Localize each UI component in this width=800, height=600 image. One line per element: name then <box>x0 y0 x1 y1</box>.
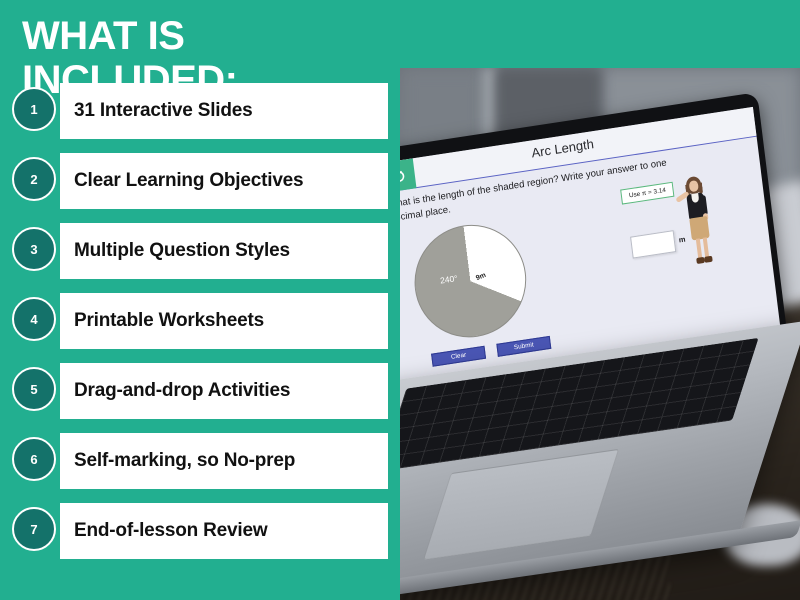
feature-label: Printable Worksheets <box>60 310 264 332</box>
feature-number-badge: 4 <box>12 297 56 341</box>
feature-number-badge: 2 <box>12 157 56 201</box>
feature-number-badge: 1 <box>12 87 56 131</box>
feature-box: Drag-and-drop Activities <box>60 363 388 419</box>
feature-box: Multiple Question Styles <box>60 223 388 279</box>
teacher-right-leg <box>703 237 709 257</box>
list-item[interactable]: Printable Worksheets 4 <box>0 288 400 358</box>
teacher-figure <box>673 170 724 271</box>
left-content-panel: WHAT IS INCLUDED: 31 Interactive Slides … <box>0 0 400 600</box>
clear-button[interactable]: Clear <box>431 346 486 367</box>
teacher-right-shoe <box>704 256 713 263</box>
sector-diagram: 240° 9m <box>408 217 533 345</box>
list-item[interactable]: 31 Interactive Slides 1 <box>0 78 400 148</box>
laptop: Arc Length What is the length of the sha… <box>400 150 800 600</box>
list-item[interactable]: Self-marking, so No-prep 6 <box>0 428 400 498</box>
feature-box: 31 Interactive Slides <box>60 83 388 139</box>
laptop-photo: Arc Length What is the length of the sha… <box>400 68 800 600</box>
list-item[interactable]: Multiple Question Styles 3 <box>0 218 400 288</box>
list-item[interactable]: Drag-and-drop Activities 5 <box>0 358 400 428</box>
feature-box: Clear Learning Objectives <box>60 153 388 209</box>
sector-shape <box>408 217 533 345</box>
submit-button[interactable]: Submit <box>496 336 551 357</box>
feature-label: 31 Interactive Slides <box>60 100 253 122</box>
feature-label: End-of-lesson Review <box>60 520 267 542</box>
feature-label: Clear Learning Objectives <box>60 170 303 192</box>
feature-label: Self-marking, so No-prep <box>60 450 295 472</box>
feature-box: Printable Worksheets <box>60 293 388 349</box>
feature-number-badge: 6 <box>12 437 56 481</box>
feature-number-badge: 7 <box>12 507 56 551</box>
feature-box: Self-marking, so No-prep <box>60 433 388 489</box>
feature-label: Drag-and-drop Activities <box>60 380 290 402</box>
teacher-left-leg <box>696 238 702 258</box>
list-item[interactable]: Clear Learning Objectives 2 <box>0 148 400 218</box>
list-item[interactable]: End-of-lesson Review 7 <box>0 498 400 568</box>
feature-label: Multiple Question Styles <box>60 240 290 262</box>
feature-box: End-of-lesson Review <box>60 503 388 559</box>
answer-input[interactable] <box>630 230 676 258</box>
feature-number-badge: 5 <box>12 367 56 411</box>
feature-list: 31 Interactive Slides 1 Clear Learning O… <box>0 78 400 568</box>
laptop-trackpad <box>423 449 619 560</box>
feature-number-badge: 3 <box>12 227 56 271</box>
photo-top-band <box>400 0 800 68</box>
